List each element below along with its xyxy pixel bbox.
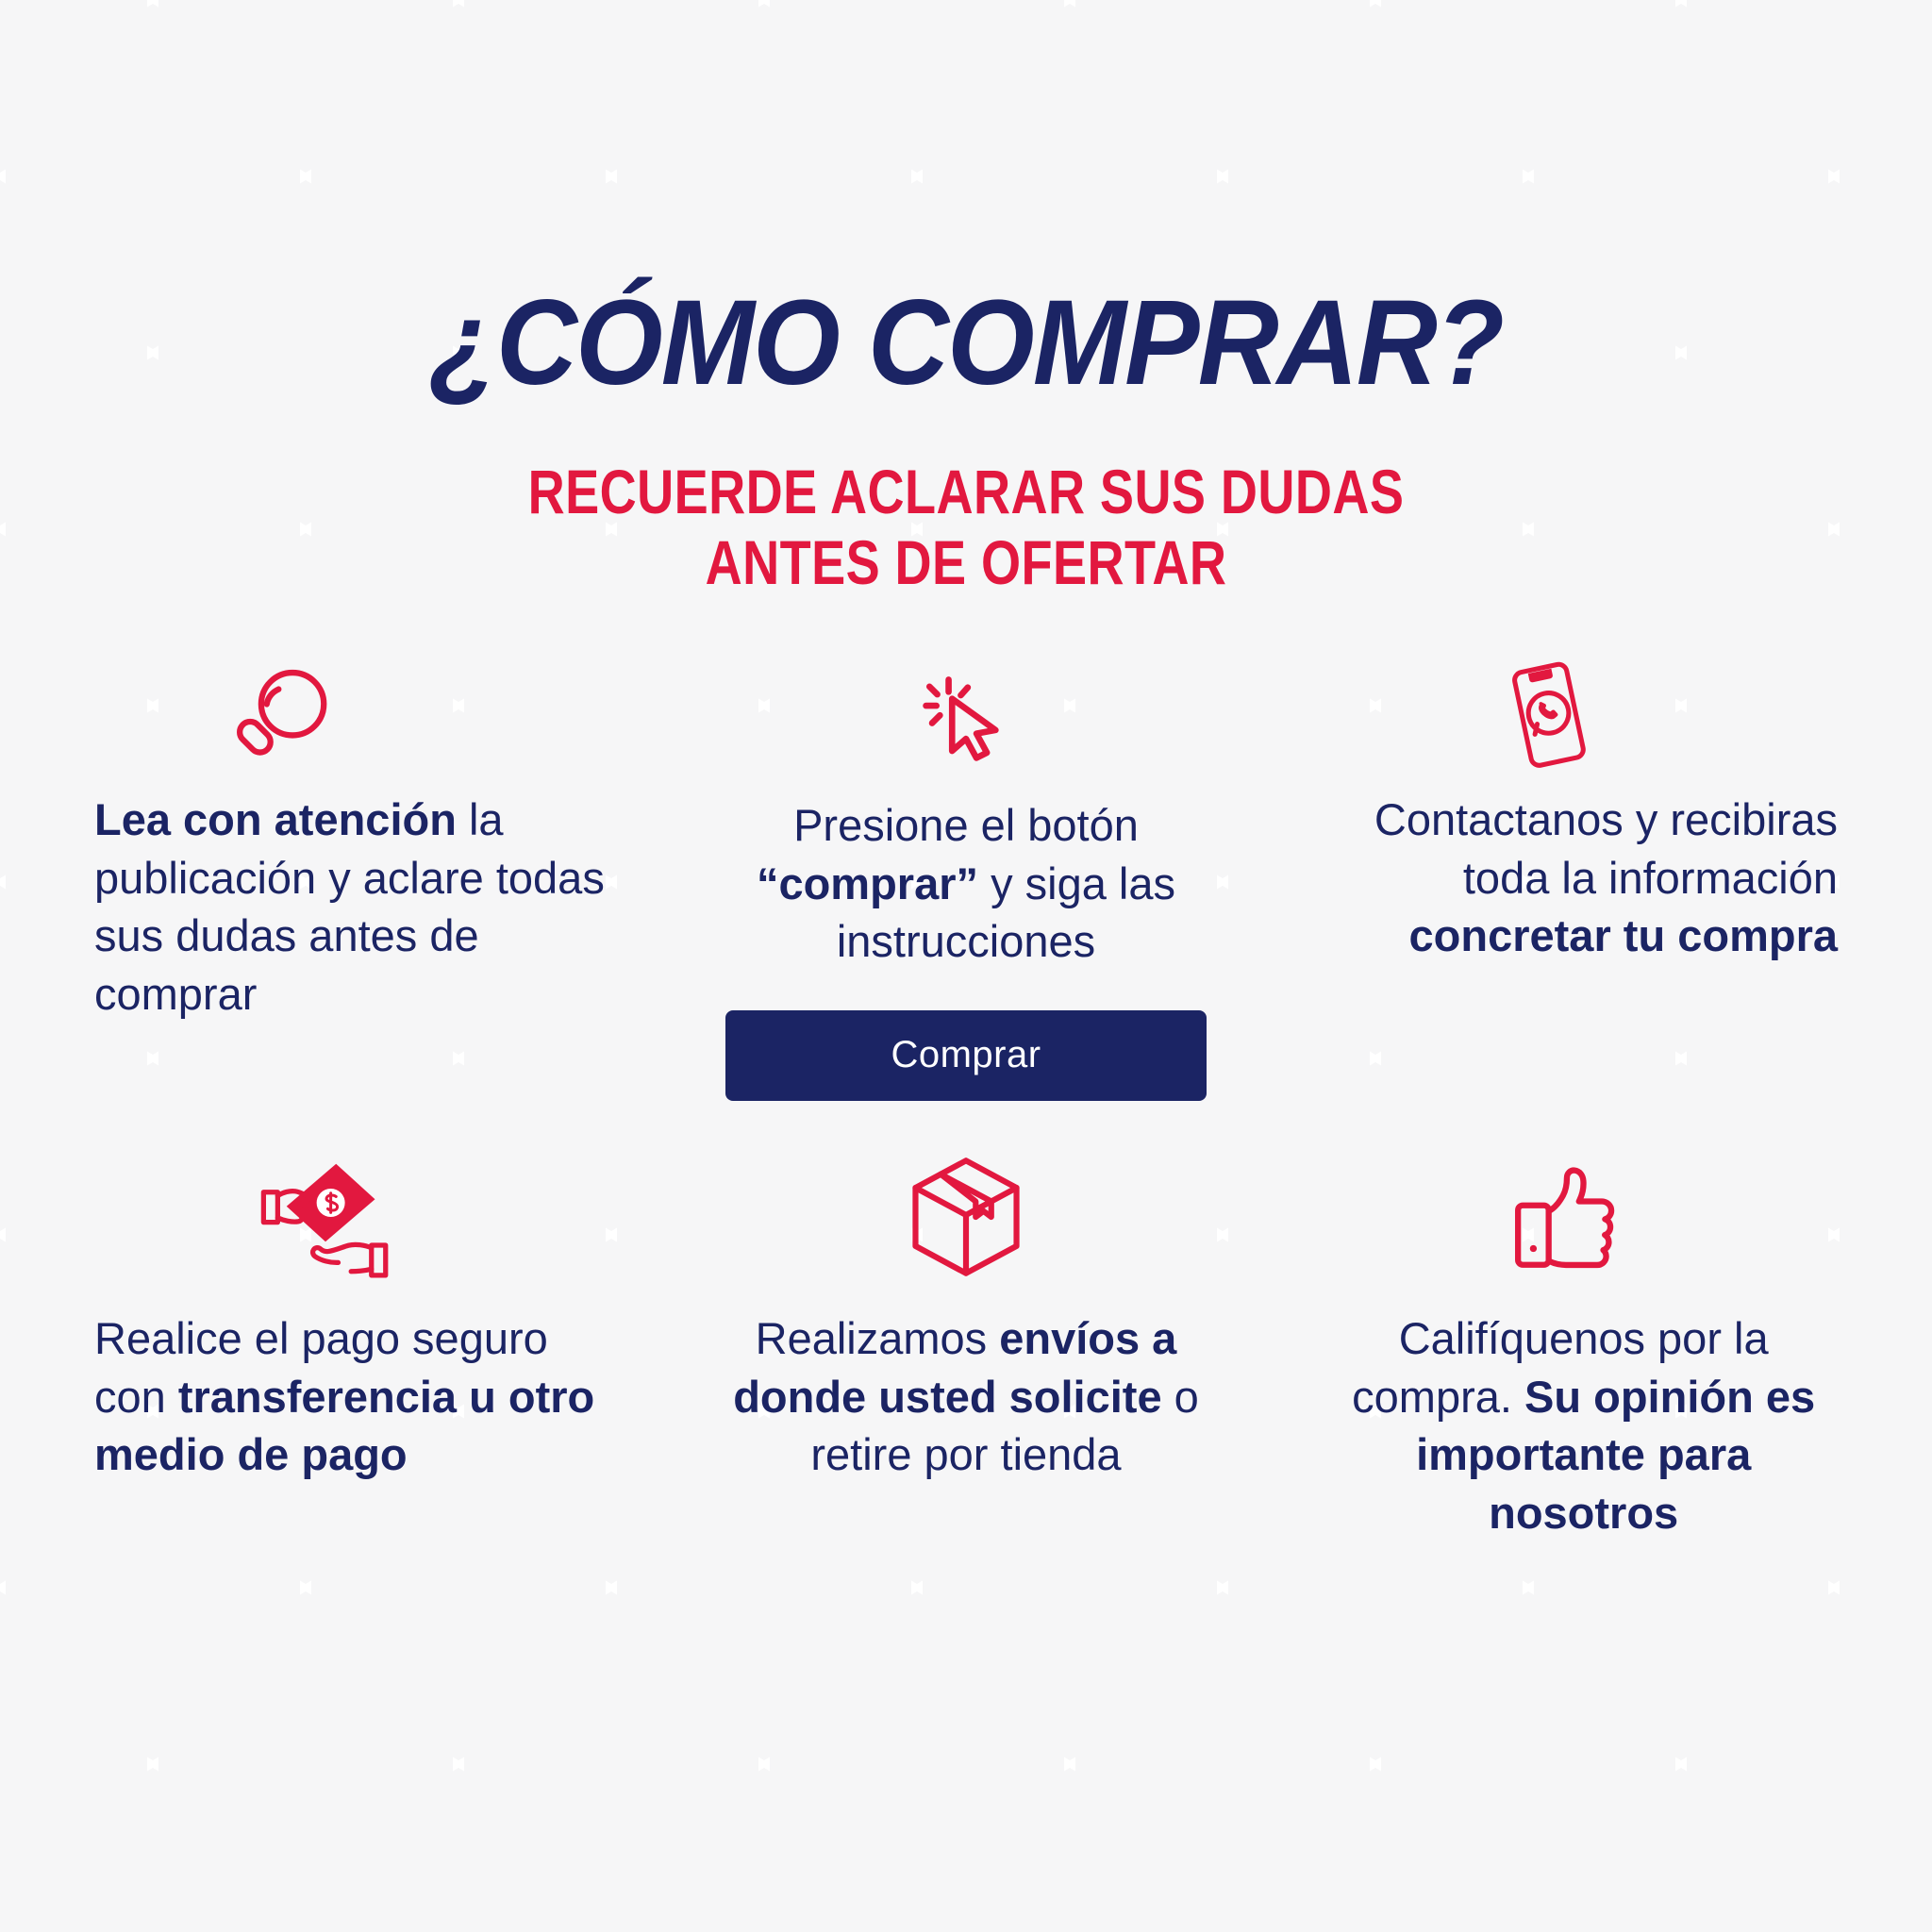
card-secure-payment-text: Realice el pago seguro con transferencia… bbox=[57, 1309, 641, 1484]
card-read-carefully-text: Lea con atención la publicación y aclare… bbox=[57, 791, 641, 1023]
click-cursor-icon bbox=[675, 651, 1258, 774]
card-shipping-text: Realizamos envíos a donde usted solicite… bbox=[675, 1309, 1258, 1484]
steps-grid-row-2: Realice el pago seguro con transferencia… bbox=[57, 1132, 1875, 1541]
package-box-icon bbox=[675, 1132, 1258, 1283]
whatsapp-phone-icon bbox=[1291, 651, 1875, 774]
thumbs-up-icon bbox=[1291, 1132, 1875, 1283]
card-contact-us: Contactanos y recibiras toda la informac… bbox=[1291, 651, 1875, 1101]
card-read-carefully: Lea con atención la publicación y aclare… bbox=[57, 651, 641, 1101]
card-rate-us: Califíquenos por la compra. Su opinión e… bbox=[1291, 1132, 1875, 1541]
page-title: ¿CÓMO COMPRAR? bbox=[68, 283, 1865, 404]
card-rate-us-text: Califíquenos por la compra. Su opinión e… bbox=[1291, 1309, 1875, 1541]
infographic-page: ¿CÓMO COMPRAR? RECUERDE ACLARAR SUS DUDA… bbox=[0, 0, 1932, 1932]
card-shipping: Realizamos envíos a donde usted solicite… bbox=[675, 1132, 1258, 1541]
card-press-buy-text: Presione el botón “comprar” y siga las i… bbox=[675, 796, 1258, 971]
comprar-button[interactable]: Comprar bbox=[725, 1010, 1207, 1101]
steps-grid-row-1: Lea con atención la publicación y aclare… bbox=[57, 651, 1875, 1101]
page-subtitle: RECUERDE ACLARAR SUS DUDAS ANTES DE OFER… bbox=[174, 457, 1757, 598]
magnifier-icon bbox=[57, 651, 641, 774]
card-contact-us-text: Contactanos y recibiras toda la informac… bbox=[1291, 791, 1875, 965]
header: ¿CÓMO COMPRAR? RECUERDE ACLARAR SUS DUDA… bbox=[0, 283, 1932, 598]
card-press-buy: Presione el botón “comprar” y siga las i… bbox=[675, 651, 1258, 1101]
card-secure-payment: Realice el pago seguro con transferencia… bbox=[57, 1132, 641, 1541]
cash-in-hand-icon bbox=[57, 1132, 641, 1283]
comprar-button-row: Comprar bbox=[675, 1010, 1258, 1101]
